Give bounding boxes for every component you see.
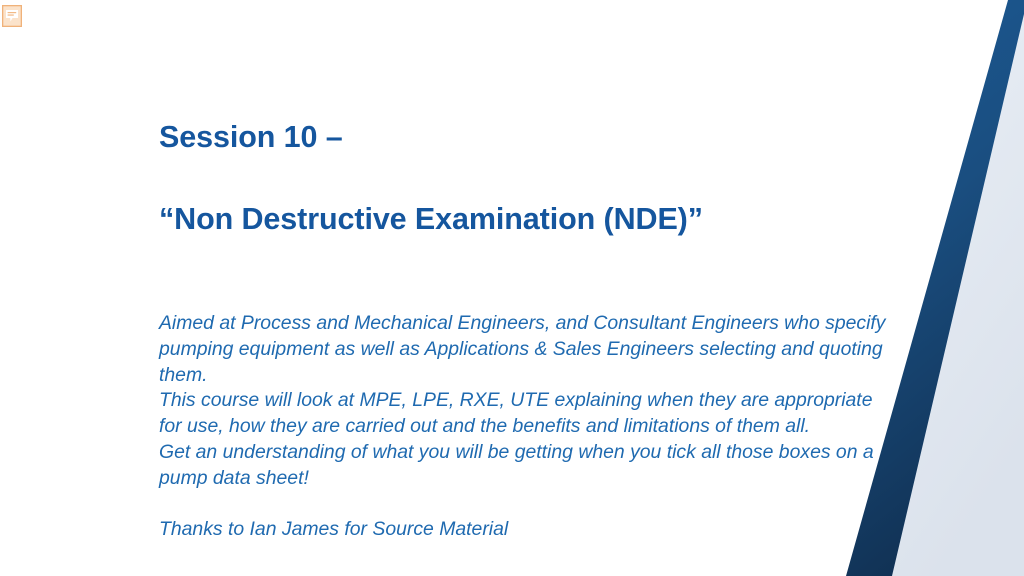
comment-icon [2, 5, 22, 27]
slide-title-line-1: Session 10 – [159, 117, 894, 158]
comment-marker[interactable] [2, 5, 22, 27]
slide-title-line-2: “Non Destructive Examination (NDE)” [159, 199, 894, 240]
slide-body: Aimed at Process and Mechanical Engineer… [159, 311, 894, 543]
decorative-light-panel [892, 0, 1024, 576]
body-paragraph-3: Get an understanding of what you will be… [159, 440, 894, 492]
body-paragraph-credit: Thanks to Ian James for Source Material [159, 517, 894, 543]
slide-content: Session 10 – “Non Destructive Examinatio… [159, 76, 894, 543]
body-paragraph-1: Aimed at Process and Mechanical Engineer… [159, 311, 894, 388]
slide-title: Session 10 – “Non Destructive Examinatio… [159, 76, 894, 281]
slide-canvas: Session 10 – “Non Destructive Examinatio… [0, 0, 1024, 576]
body-paragraph-2: This course will look at MPE, LPE, RXE, … [159, 388, 894, 440]
